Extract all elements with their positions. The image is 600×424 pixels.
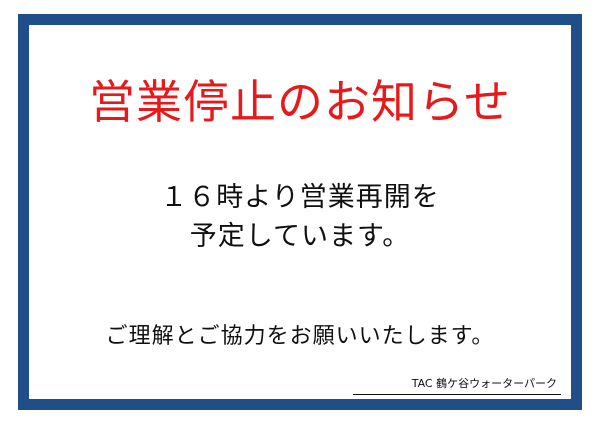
poster-headline: 営業停止のお知らせ [89, 77, 511, 128]
signature-underline [353, 394, 561, 395]
poster-body-line-2: 予定しています。 [190, 217, 411, 256]
poster-body-line-1: １６時より営業再開を [160, 178, 439, 217]
poster-note: ご理解とご協力をお願いいたします。 [106, 318, 495, 350]
notice-poster: 営業停止のお知らせ １６時より営業再開を 予定しています。 ご理解とご協力をお願… [0, 0, 600, 424]
poster-content: 営業停止のお知らせ １６時より営業再開を 予定しています。 ご理解とご協力をお願… [29, 25, 571, 399]
poster-border-frame: 営業停止のお知らせ １６時より営業再開を 予定しています。 ご理解とご協力をお願… [18, 14, 582, 410]
poster-signature: TAC 鶴ケ谷ウォーターパーク [412, 375, 557, 391]
